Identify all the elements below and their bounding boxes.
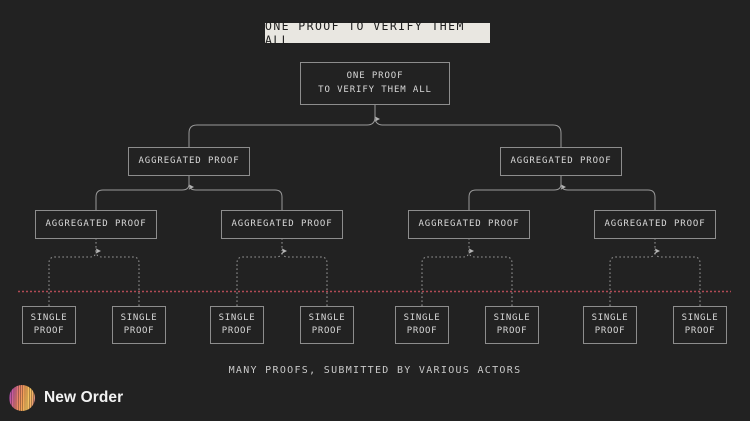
- node-single-proof-5[interactable]: SINGLE PROOF: [485, 306, 539, 344]
- diagram-title-text: ONE PROOF TO VERIFY THEM ALL: [265, 19, 490, 47]
- node-line2: PROOF: [497, 325, 528, 338]
- node-aggregated-l2-0[interactable]: AGGREGATED PROOF: [128, 147, 250, 176]
- brand-name: New Order: [44, 389, 123, 407]
- node-single-proof-4[interactable]: SINGLE PROOF: [395, 306, 449, 344]
- node-aggregated-l3-2[interactable]: AGGREGATED PROOF: [408, 210, 530, 239]
- node-line2: PROOF: [222, 325, 253, 338]
- node-single-proof-1[interactable]: SINGLE PROOF: [112, 306, 166, 344]
- node-single-proof-6[interactable]: SINGLE PROOF: [583, 306, 637, 344]
- diagram-canvas: ONE PROOF TO VERIFY THEM ALL: [0, 0, 750, 421]
- node-label: AGGREGATED PROOF: [231, 218, 332, 231]
- node-label: AGGREGATED PROOF: [45, 218, 146, 231]
- node-root-line2: TO VERIFY THEM ALL: [318, 84, 432, 97]
- node-line1: SINGLE: [31, 312, 68, 325]
- node-aggregated-l3-0[interactable]: AGGREGATED PROOF: [35, 210, 157, 239]
- node-line2: PROOF: [312, 325, 343, 338]
- node-line2: PROOF: [595, 325, 626, 338]
- node-line1: SINGLE: [121, 312, 158, 325]
- node-label: AGGREGATED PROOF: [138, 155, 239, 168]
- node-line1: SINGLE: [592, 312, 629, 325]
- node-label: AGGREGATED PROOF: [510, 155, 611, 168]
- node-single-proof-2[interactable]: SINGLE PROOF: [210, 306, 264, 344]
- node-line1: SINGLE: [309, 312, 346, 325]
- node-aggregated-l3-1[interactable]: AGGREGATED PROOF: [221, 210, 343, 239]
- diagram-caption: MANY PROOFS, SUBMITTED BY VARIOUS ACTORS: [0, 365, 750, 376]
- diagram-caption-text: MANY PROOFS, SUBMITTED BY VARIOUS ACTORS: [229, 365, 522, 376]
- node-single-proof-0[interactable]: SINGLE PROOF: [22, 306, 76, 344]
- node-single-proof-3[interactable]: SINGLE PROOF: [300, 306, 354, 344]
- node-line1: SINGLE: [404, 312, 441, 325]
- node-aggregated-l2-1[interactable]: AGGREGATED PROOF: [500, 147, 622, 176]
- node-root[interactable]: ONE PROOF TO VERIFY THEM ALL: [300, 62, 450, 105]
- node-line2: PROOF: [685, 325, 716, 338]
- node-label: AGGREGATED PROOF: [418, 218, 519, 231]
- node-line2: PROOF: [407, 325, 438, 338]
- node-line1: SINGLE: [219, 312, 256, 325]
- diagram-title: ONE PROOF TO VERIFY THEM ALL: [265, 23, 490, 43]
- brand-logo: New Order: [9, 385, 123, 411]
- node-line2: PROOF: [34, 325, 65, 338]
- node-aggregated-l3-3[interactable]: AGGREGATED PROOF: [594, 210, 716, 239]
- node-line2: PROOF: [124, 325, 155, 338]
- new-order-logo-icon: [9, 385, 35, 411]
- node-line1: SINGLE: [682, 312, 719, 325]
- node-line1: SINGLE: [494, 312, 531, 325]
- node-single-proof-7[interactable]: SINGLE PROOF: [673, 306, 727, 344]
- node-root-line1: ONE PROOF: [347, 70, 404, 83]
- node-label: AGGREGATED PROOF: [604, 218, 705, 231]
